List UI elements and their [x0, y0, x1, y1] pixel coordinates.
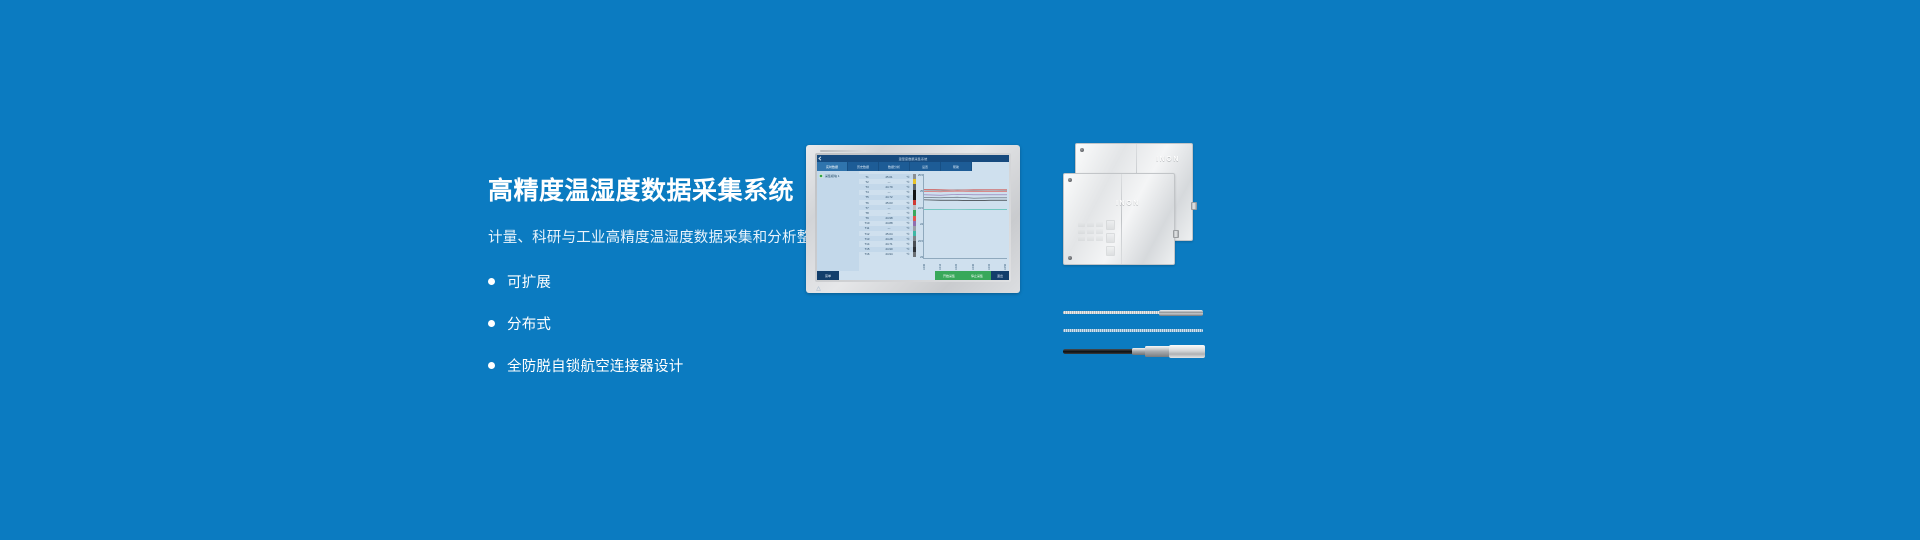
chart-x-axis: 10:0010:1010:2010:3010:4010:50: [923, 259, 1007, 270]
tab-settings[interactable]: 设置: [910, 162, 941, 171]
y-tick-label: 24: [916, 223, 923, 226]
channel-label: T7: [859, 206, 875, 210]
channel-label: T4: [859, 190, 875, 194]
channel-label: T3: [859, 185, 875, 189]
table-row[interactable]: T2---℃: [859, 179, 913, 184]
chart-series-line: [924, 189, 1007, 190]
monitor-vent: [820, 150, 866, 152]
channel-value: ---: [875, 226, 903, 230]
app-footer-toolbar: 菜单 开始采集 停止采集 退出: [817, 271, 1009, 280]
sensor-probes-group: [1063, 308, 1213, 368]
menu-button[interactable]: 菜单: [817, 271, 839, 280]
channel-label: T9: [859, 216, 875, 220]
channel-value: 24.98: [875, 216, 903, 220]
screw-icon: [1068, 178, 1072, 182]
table-row[interactable]: T125.01℃: [859, 174, 913, 179]
connector-body: [1169, 345, 1205, 359]
y-tick-label: 24.5: [916, 207, 923, 210]
brand-logo: INON: [1116, 200, 1140, 207]
table-row[interactable]: T1424.71℃: [859, 241, 913, 246]
panel-mount-touch-monitor: 温湿度数据采集系统 实时数据 历史数据 数据分析 设置 帮助 采集模块 1: [806, 145, 1020, 293]
bullet-dot-icon: [488, 362, 495, 369]
feature-label: 分布式: [507, 313, 551, 334]
tabbar-filler: [972, 162, 1009, 171]
channel-label: T11: [859, 226, 875, 230]
channel-unit: ℃: [903, 247, 913, 251]
stop-acquisition-button[interactable]: 停止采集: [963, 271, 991, 280]
sidebar-item-module-1[interactable]: 采集模块 1: [819, 174, 857, 178]
table-row[interactable]: T7---℃: [859, 205, 913, 210]
chart-series-svg: [924, 174, 1007, 258]
table-row[interactable]: T625.03℃: [859, 200, 913, 205]
status-online-icon: [819, 174, 823, 178]
channel-label: T16: [859, 252, 875, 256]
sidebar-item-label: 采集模块 1: [825, 174, 840, 178]
screw-icon: [1068, 256, 1072, 260]
channel-unit: ℃: [903, 190, 913, 194]
table-row[interactable]: T324.79℃: [859, 184, 913, 189]
monitor-bezel: 温湿度数据采集系统 实时数据 历史数据 数据分析 设置 帮助 采集模块 1: [815, 153, 1011, 282]
chart-y-axis: 25.52524.52423.523: [916, 174, 923, 259]
start-acquisition-button[interactable]: 开始采集: [935, 271, 963, 280]
table-row[interactable]: T1324.28℃: [859, 236, 913, 241]
feature-label: 全防脱自锁航空连接器设计: [507, 355, 683, 376]
x-tick-label: 10:40: [988, 259, 991, 270]
y-tick-label: 25.5: [916, 174, 923, 177]
channel-unit: ℃: [903, 237, 913, 241]
acquisition-modules-group: INON INON: [1063, 143, 1213, 295]
cable-jacket: [1063, 349, 1135, 354]
channel-value: 24.88: [875, 221, 903, 225]
channel-value: 24.72: [875, 195, 903, 199]
channel-label: T2: [859, 180, 875, 184]
humidity-sensor-cable: [1063, 328, 1203, 333]
channel-unit: ℃: [903, 242, 913, 246]
channel-label: T13: [859, 237, 875, 241]
cable-ferrule: [1132, 348, 1146, 356]
product-banner: 高精度温湿度数据采集系统 计量、科研与工业高精度温湿度数据采集和分析整体解决方案…: [0, 0, 1920, 540]
x-tick-label: 10:30: [972, 259, 975, 270]
channel-value: ---: [875, 190, 903, 194]
channel-unit: ℃: [903, 221, 913, 225]
device-tree-sidebar: 采集模块 1: [817, 171, 859, 271]
channel-value: ---: [875, 211, 903, 215]
app-titlebar: 温湿度数据采集系统: [817, 155, 1009, 162]
connector-shell: [1145, 346, 1171, 357]
probe-stem: [1063, 311, 1163, 314]
channel-readout-table: T125.01℃T2---℃T324.79℃T4---℃T524.72℃T625…: [859, 171, 913, 271]
app-title: 温湿度数据采集系统: [817, 157, 1009, 161]
tab-help[interactable]: 帮助: [941, 162, 972, 171]
channel-unit: ℃: [903, 216, 913, 220]
channel-label: T12: [859, 232, 875, 236]
x-tick-label: 10:20: [955, 259, 958, 270]
x-tick-label: 10:00: [923, 259, 926, 270]
chart-series-line: [924, 197, 1007, 198]
aviation-connector-cable: [1063, 344, 1213, 360]
screw-icon: [1080, 148, 1084, 152]
channel-value: 24.28: [875, 237, 903, 241]
list-item: 分布式: [488, 313, 958, 334]
vendor-logo-icon: [816, 286, 821, 291]
chart-series-line: [924, 200, 1007, 201]
channel-label: T14: [859, 242, 875, 246]
channel-unit: ℃: [903, 226, 913, 230]
footer-spacer: [839, 271, 935, 280]
chart-plot-area: [923, 174, 1007, 259]
table-row[interactable]: T1024.88℃: [859, 221, 913, 226]
chart-series-line: [924, 191, 1007, 192]
channel-value: ---: [875, 180, 903, 184]
channel-label: T6: [859, 201, 875, 205]
module-connector: [1191, 202, 1197, 210]
probe-tip: [1159, 310, 1203, 316]
module-connector: [1173, 230, 1179, 238]
channel-value: 25.04: [875, 232, 903, 236]
y-tick-label: 23.5: [916, 240, 923, 243]
table-row[interactable]: T4---℃: [859, 190, 913, 195]
channel-unit: ℃: [903, 211, 913, 215]
table-row[interactable]: T8---℃: [859, 210, 913, 215]
channel-label: T1: [859, 175, 875, 179]
channel-unit: ℃: [903, 195, 913, 199]
bullet-dot-icon: [488, 278, 495, 285]
tab-realtime-data[interactable]: 实时数据: [817, 162, 848, 171]
channel-label: T15: [859, 247, 875, 251]
channel-unit: ℃: [903, 206, 913, 210]
app-body: 采集模块 1 T125.01℃T2---℃T324.79℃T4---℃T524.…: [817, 171, 1009, 271]
channel-unit: ℃: [903, 185, 913, 189]
module-seam: [1121, 174, 1122, 264]
acquisition-module-front: INON: [1063, 173, 1175, 265]
table-row[interactable]: T524.72℃: [859, 195, 913, 200]
cable-sheath: [1063, 329, 1203, 332]
tab-data-analysis[interactable]: 数据分析: [879, 162, 910, 171]
channel-unit: ℃: [903, 201, 913, 205]
channel-unit: ℃: [903, 180, 913, 184]
tab-history-data[interactable]: 历史数据: [848, 162, 879, 171]
x-tick-label: 10:10: [939, 259, 942, 270]
channel-value: 25.03: [875, 201, 903, 205]
channel-unit: ℃: [903, 252, 913, 256]
channel-value: ---: [875, 206, 903, 210]
table-row[interactable]: T1524.90℃: [859, 247, 913, 252]
channel-value: 24.94: [875, 252, 903, 256]
channel-label: T8: [859, 211, 875, 215]
channel-label: T10: [859, 221, 875, 225]
realtime-chart: 25.52524.52423.523 10:0010:1010:2010:301…: [916, 171, 1009, 271]
chart-series-line: [924, 194, 1007, 195]
x-tick-label: 10:50: [1004, 259, 1007, 270]
table-row[interactable]: T1624.94℃: [859, 252, 913, 257]
monitor-screen: 温湿度数据采集系统 实时数据 历史数据 数据分析 设置 帮助 采集模块 1: [817, 155, 1009, 280]
y-tick-label: 25: [916, 190, 923, 193]
list-item: 全防脱自锁航空连接器设计: [488, 355, 958, 376]
brand-logo: INON: [1156, 156, 1180, 163]
table-row[interactable]: T11---℃: [859, 226, 913, 231]
y-tick-label: 23: [916, 256, 923, 259]
module-tall-ports: [1106, 220, 1115, 256]
channel-value: 24.71: [875, 242, 903, 246]
channel-value: 24.79: [875, 185, 903, 189]
channel-unit: ℃: [903, 232, 913, 236]
module-port-grid: [1078, 222, 1103, 241]
channel-label: T5: [859, 195, 875, 199]
table-row[interactable]: T924.98℃: [859, 216, 913, 221]
channel-value: 24.90: [875, 247, 903, 251]
channel-value: 25.01: [875, 175, 903, 179]
exit-button[interactable]: 退出: [991, 271, 1009, 280]
app-tabbar: 实时数据 历史数据 数据分析 设置 帮助: [817, 162, 1009, 171]
feature-label: 可扩展: [507, 271, 551, 292]
table-row[interactable]: T1225.04℃: [859, 231, 913, 236]
bullet-dot-icon: [488, 320, 495, 327]
pt100-temperature-probe: [1063, 308, 1203, 317]
channel-unit: ℃: [903, 175, 913, 179]
